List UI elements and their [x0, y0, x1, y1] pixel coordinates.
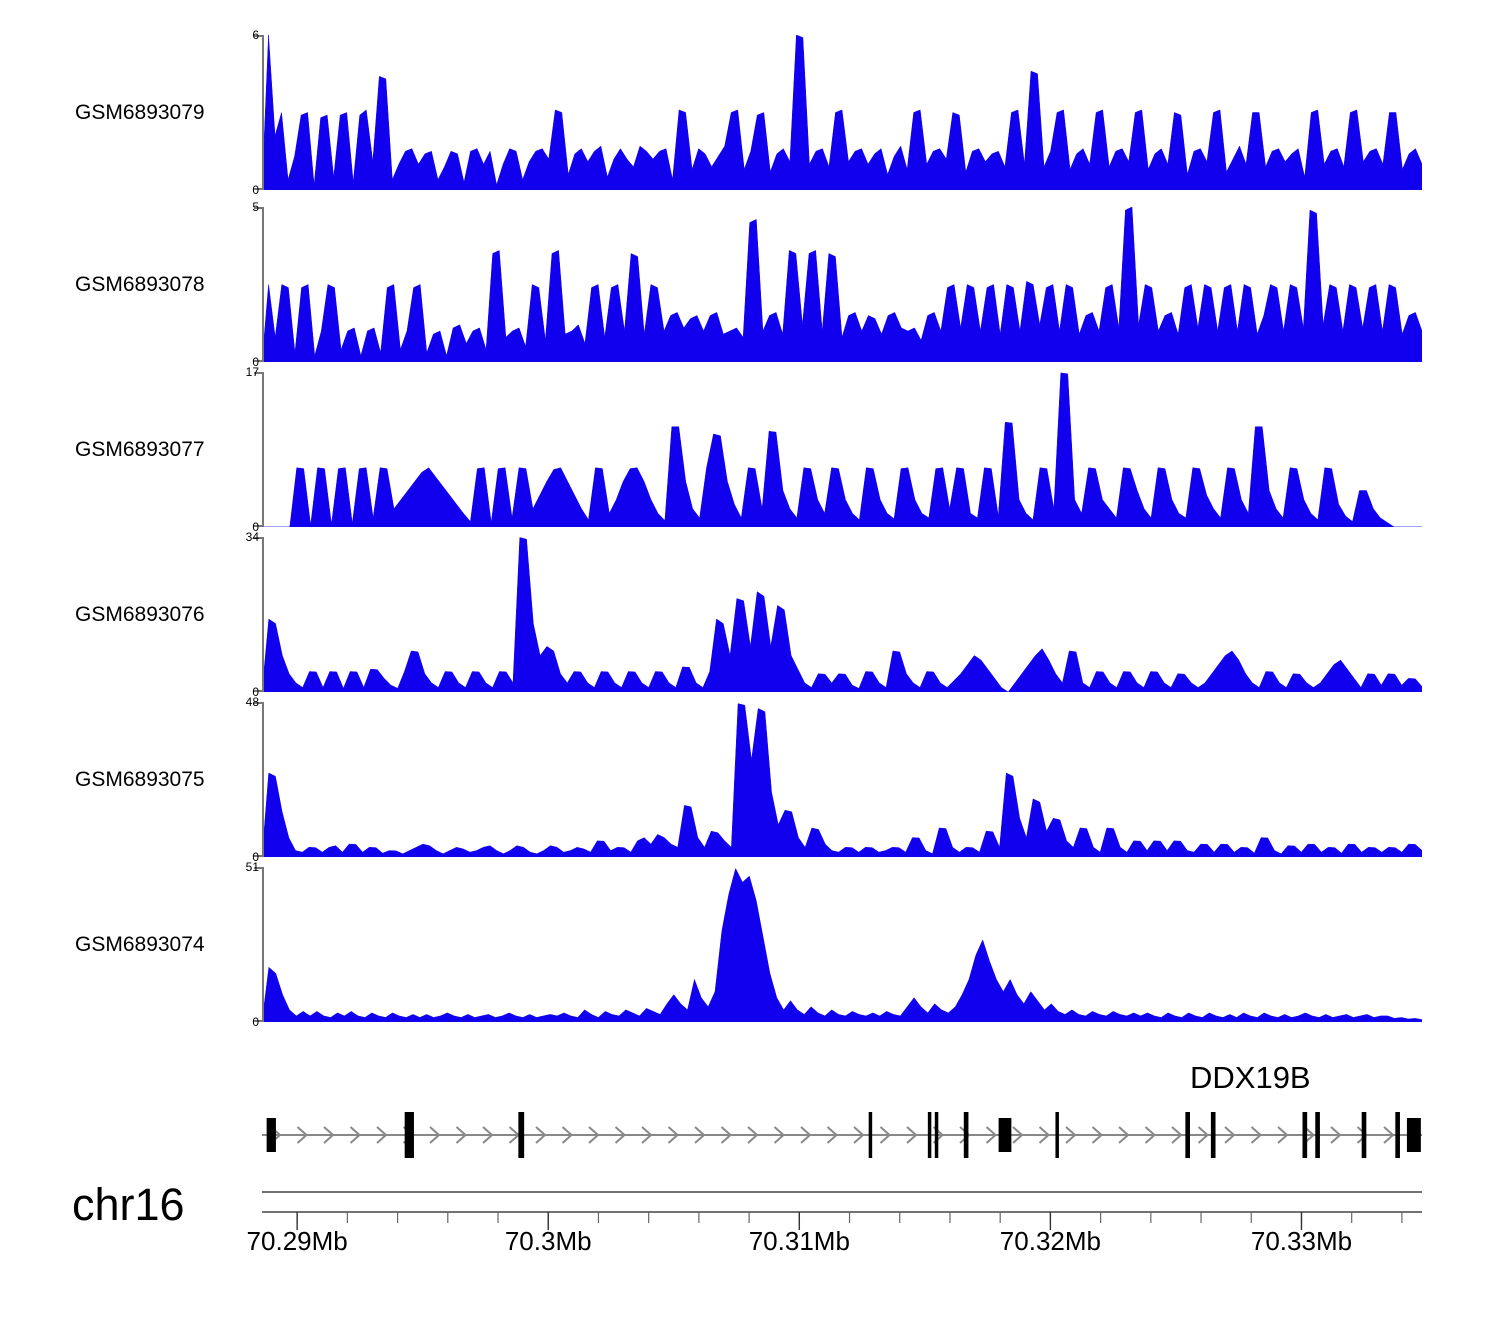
coverage-area-GSM6893078: [262, 207, 1422, 362]
gene-exon[interactable]: [1211, 1112, 1216, 1158]
y-axis-min-label: 0: [252, 184, 259, 196]
track-plot-GSM6893079[interactable]: 60: [262, 35, 1422, 190]
y-axis-max-label: 17: [246, 366, 259, 378]
axis-tick-label: 70.32Mb: [1000, 1228, 1101, 1254]
gene-exon[interactable]: [928, 1112, 932, 1158]
axis-tick-label: 70.29Mb: [247, 1228, 348, 1254]
coverage-track-GSM6893079[interactable]: GSM689307960: [0, 35, 1500, 190]
track-plot-GSM6893078[interactable]: 50: [262, 207, 1422, 362]
genome-browser: GSM689307960GSM689307850GSM6893077170GSM…: [0, 0, 1500, 1320]
y-axis-max-label: 51: [246, 861, 259, 873]
coverage-track-GSM6893076[interactable]: GSM6893076340: [0, 537, 1500, 692]
gene-model-svg: [262, 1090, 1422, 1180]
axis-svg: [262, 1190, 1422, 1230]
axis-tick-label: 70.3Mb: [505, 1228, 592, 1254]
gene-exon[interactable]: [999, 1118, 1012, 1152]
gene-model-track[interactable]: [262, 1090, 1422, 1180]
track-label-GSM6893078: GSM6893078: [75, 274, 275, 295]
chromosome-label: chr16: [72, 1182, 185, 1227]
y-axis-max-label: 34: [246, 531, 259, 543]
y-axis-GSM6893076: 340: [262, 537, 264, 692]
track-label-GSM6893077: GSM6893077: [75, 439, 275, 460]
y-axis-max-label: 6: [252, 29, 259, 41]
y-axis-GSM6893074: 510: [262, 867, 264, 1022]
axis-tick-label: 70.31Mb: [749, 1228, 850, 1254]
y-axis-GSM6893077: 170: [262, 372, 264, 527]
y-axis-GSM6893075: 480: [262, 702, 264, 857]
gene-exon[interactable]: [935, 1112, 939, 1158]
coverage-track-GSM6893075[interactable]: GSM6893075480: [0, 702, 1500, 857]
gene-exon[interactable]: [869, 1112, 873, 1158]
gene-exon[interactable]: [1362, 1112, 1367, 1158]
gene-exon[interactable]: [1315, 1112, 1320, 1158]
gene-exon[interactable]: [405, 1112, 414, 1158]
gene-exon[interactable]: [964, 1112, 969, 1158]
coverage-track-GSM6893077[interactable]: GSM6893077170: [0, 372, 1500, 527]
gene-exon[interactable]: [1055, 1112, 1059, 1158]
track-label-GSM6893075: GSM6893075: [75, 769, 275, 790]
coverage-track-GSM6893074[interactable]: GSM6893074510: [0, 867, 1500, 1022]
track-label-GSM6893076: GSM6893076: [75, 604, 275, 625]
coverage-area-GSM6893079: [262, 35, 1422, 190]
y-axis-GSM6893079: 60: [262, 35, 264, 190]
y-axis-GSM6893078: 50: [262, 207, 264, 362]
track-plot-GSM6893075[interactable]: 480: [262, 702, 1422, 857]
gene-exon[interactable]: [1395, 1112, 1400, 1158]
coverage-area-GSM6893076: [262, 537, 1422, 692]
genomic-axis: 70.29Mb70.3Mb70.31Mb70.32Mb70.33Mb: [262, 1190, 1422, 1310]
coverage-area-GSM6893075: [262, 702, 1422, 857]
track-plot-GSM6893076[interactable]: 340: [262, 537, 1422, 692]
coverage-area-GSM6893074: [262, 867, 1422, 1022]
gene-exon[interactable]: [267, 1118, 276, 1152]
gene-exon[interactable]: [1185, 1112, 1190, 1158]
gene-exon[interactable]: [1407, 1118, 1421, 1152]
y-axis-max-label: 48: [246, 696, 259, 708]
y-axis-min-label: 0: [252, 1016, 259, 1028]
coverage-area-GSM6893077: [262, 372, 1422, 527]
gene-exon[interactable]: [518, 1112, 524, 1158]
track-plot-GSM6893077[interactable]: 170: [262, 372, 1422, 527]
coverage-track-GSM6893078[interactable]: GSM689307850: [0, 207, 1500, 362]
axis-tick-label: 70.33Mb: [1251, 1228, 1352, 1254]
gene-label: DDX19B: [1190, 1062, 1311, 1093]
y-axis-max-label: 5: [252, 201, 259, 213]
gene-exon[interactable]: [1303, 1112, 1308, 1158]
track-label-GSM6893079: GSM6893079: [75, 102, 275, 123]
track-plot-GSM6893074[interactable]: 510: [262, 867, 1422, 1022]
track-label-GSM6893074: GSM6893074: [75, 934, 275, 955]
